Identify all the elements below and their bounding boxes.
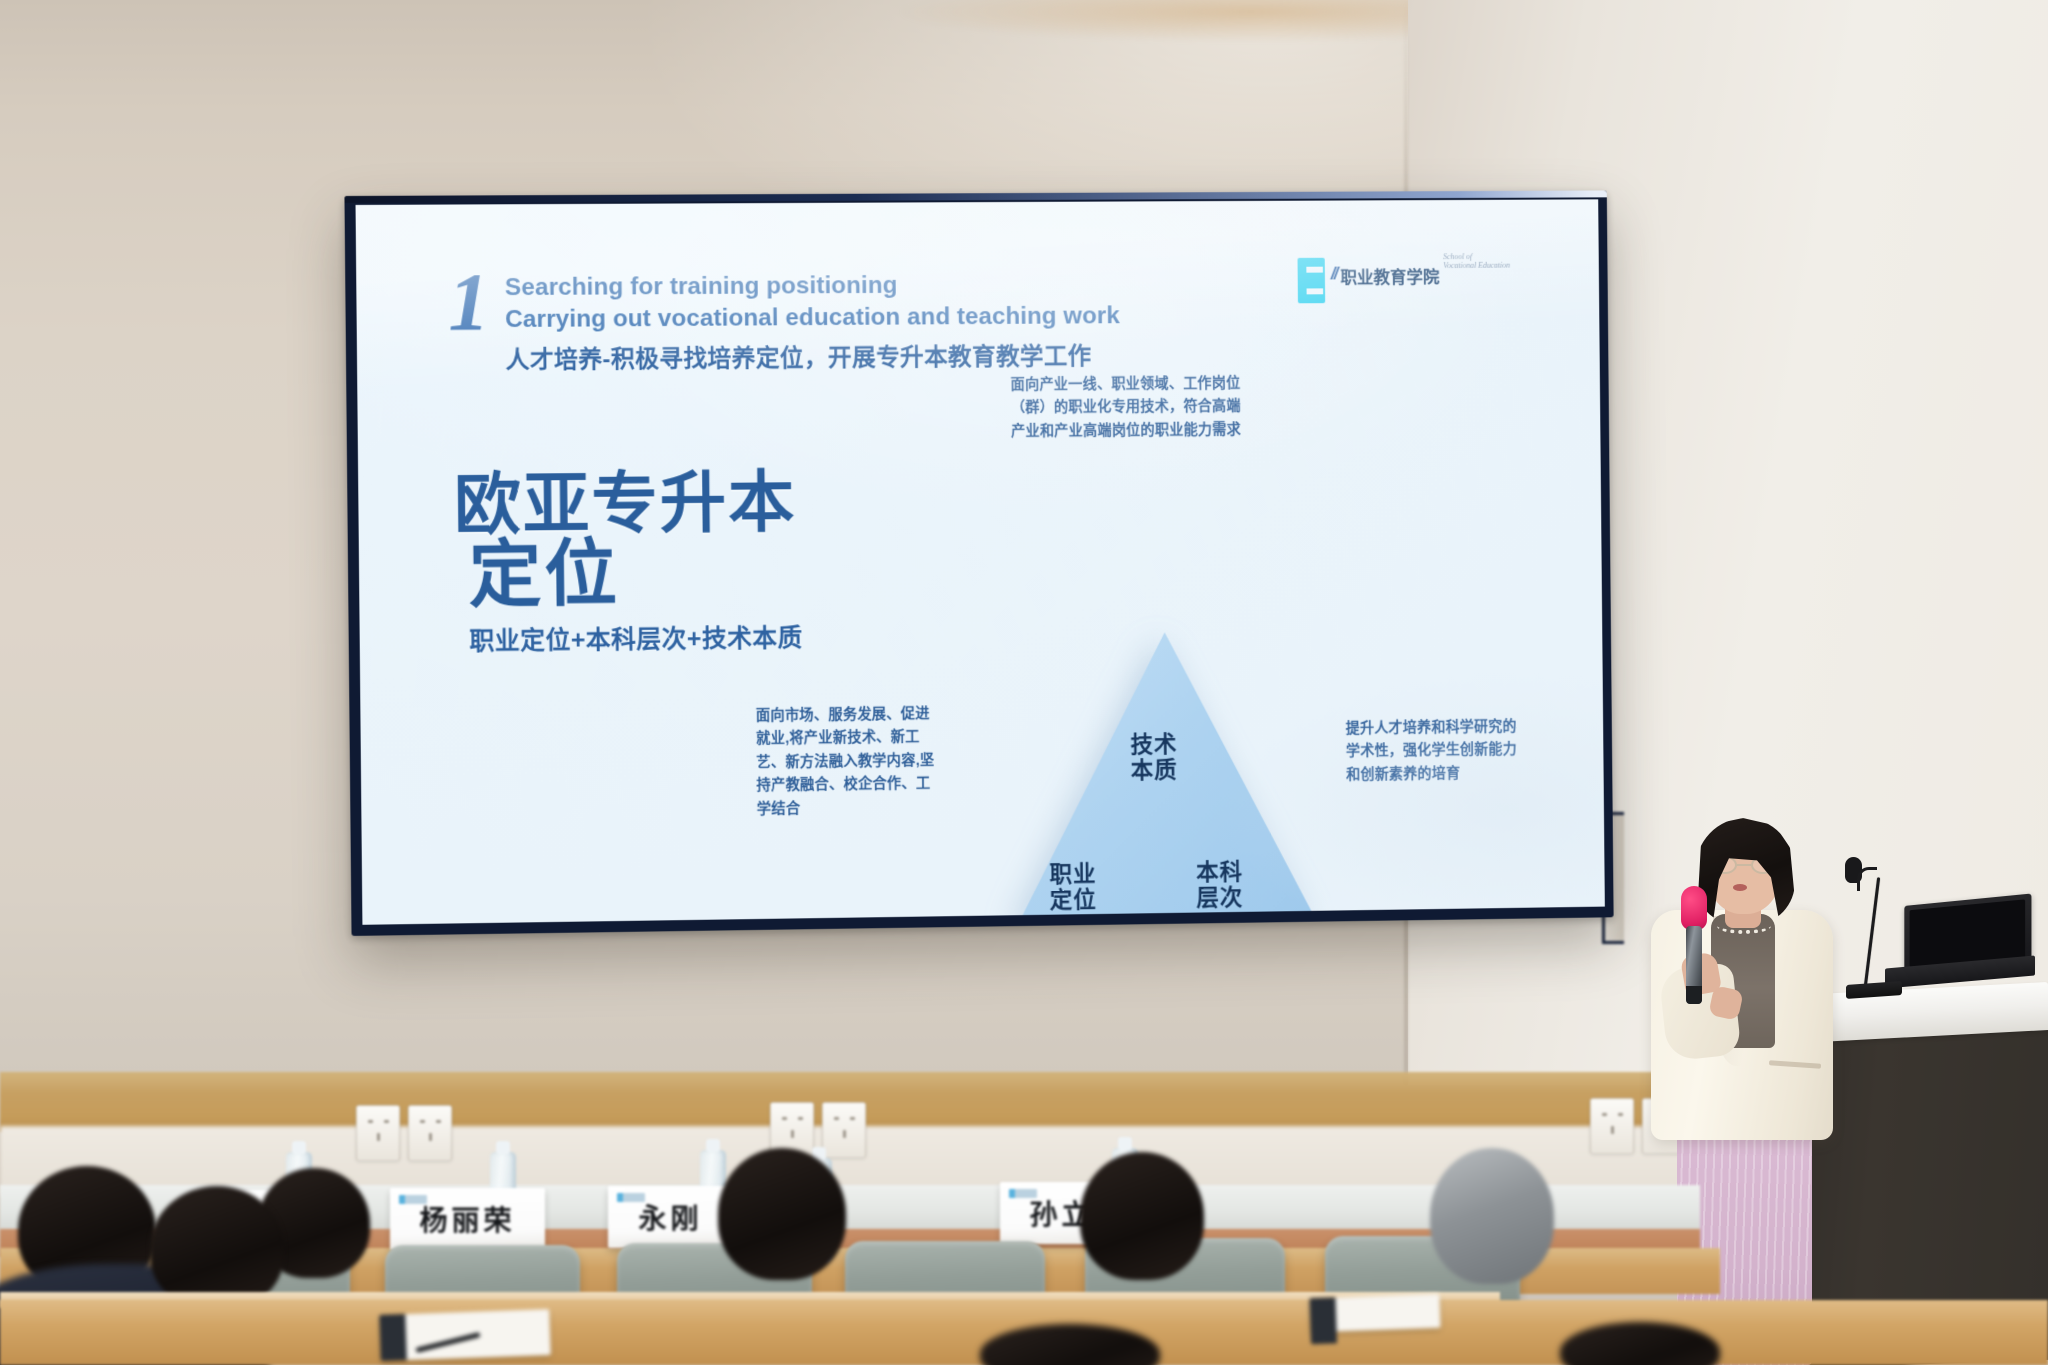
logo-name-cn: 职业教育学院 [1340,263,1439,288]
callout-bottom-left: 面向市场、服务发展、促进就业,将产业新技术、新工艺、新方法融入教学内容,坚持产教… [756,703,939,822]
presentation-slide: 1 Searching for training positioning Car… [356,199,1605,924]
conference-room-scene: 1 Searching for training positioning Car… [0,0,2048,1365]
triangle-label-bottom-left: 职业 定位 [1049,861,1096,914]
logo-name-en: School of Vocational Education [1443,253,1510,271]
triangle-label-bl-line2: 定位 [1050,887,1097,914]
nameplate: 杨丽荣 [390,1188,545,1250]
triangle-diagram: 技术 本质 职业 定位 本科 层次 [1008,623,1323,925]
heading-en-line2: Carrying out vocational education and te… [505,301,1120,337]
triangle-label-br-line1: 本科 [1196,859,1243,886]
heading-en-line1: Searching for training positioning [505,269,1120,305]
audience-member-head [1080,1152,1204,1280]
triangle-label-top-line2: 本质 [1131,757,1178,784]
nameplate: 永刚 [608,1186,733,1248]
callout-bottom-right: 提升人才培养和科学研究的学术性，强化学生创新能力和创新素养的培育 [1346,716,1531,788]
nameplate-logo [399,1195,427,1204]
microphone-foam-cover [1681,886,1707,930]
nameplate-logo [1009,1189,1037,1198]
nameplate-logo [617,1193,645,1202]
headline-line2: 定位 [468,535,802,614]
jacket-pocket [1769,1060,1821,1069]
wall-socket [408,1105,452,1161]
heading-cn: 人才培养-积极寻找培养定位，开展专升本教育教学工作 [505,336,1120,375]
triangle-label-top-line1: 技术 [1130,731,1177,757]
triangle-label-bl-line1: 职业 [1049,861,1096,888]
logo-slash-icon: // [1331,264,1337,285]
slide-header: 1 Searching for training positioning Car… [448,263,1120,375]
wall-socket [356,1105,400,1161]
headline-subtitle: 职业定位+本科层次+技术本质 [469,619,803,658]
triangle-label-top: 技术 本质 [1130,731,1177,783]
logo-name-en-line2: Vocational Education [1443,262,1510,271]
handheld-microphone[interactable] [1681,886,1707,1004]
headline-line1: 欧亚专升本 [454,469,802,540]
school-logo: // 职业教育学院 School of Vocational Education [1297,257,1510,304]
triangle-label-bottom-right: 本科 层次 [1196,859,1243,911]
triangle-label-br-line2: 层次 [1196,884,1243,911]
microphone-stem-bend [1857,867,1877,891]
section-number: 1 [448,268,487,335]
microphone-body [1686,926,1702,1004]
projection-screen[interactable]: 1 Searching for training positioning Car… [344,190,1613,936]
presenter-mouth [1733,884,1747,891]
nameplate-label: 永刚 [638,1197,702,1237]
notebook [1309,1294,1440,1333]
nameplate-label: 杨丽荣 [419,1199,515,1239]
audience-member-head [718,1148,846,1280]
wall-socket-pair-left [356,1105,452,1161]
wall-socket [822,1102,866,1158]
audience-member-head [1430,1148,1554,1284]
logo-letter-e-icon [1297,258,1325,304]
slide-headline: 欧亚专升本 定位 职业定位+本科层次+技术本质 [454,469,803,658]
microphone-stem [1863,877,1880,994]
callout-top-right: 面向产业一线、职业领域、工作岗位（群）的职业化专用技术，符合高端产业和产业高端岗… [1010,373,1245,444]
